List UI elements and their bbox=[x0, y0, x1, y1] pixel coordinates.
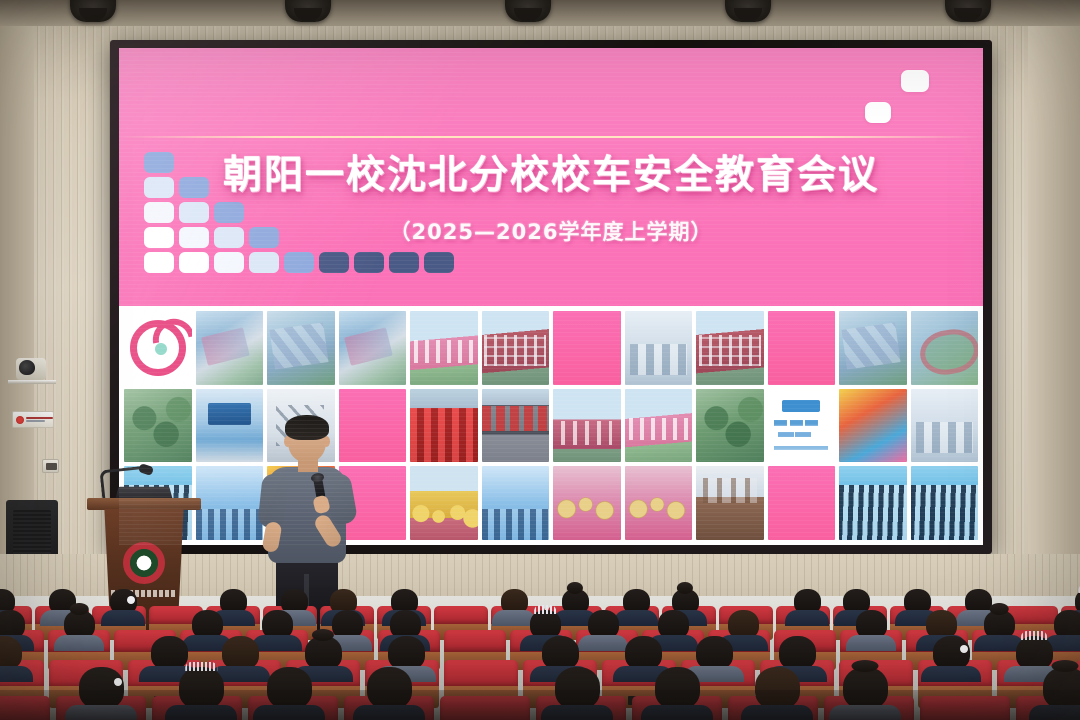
slide-header-area: 朝阳一校沈北分校校车安全教育会议 （2025—2026学年度上学期） bbox=[119, 48, 983, 306]
security-camera-icon bbox=[16, 358, 46, 380]
decor-square bbox=[144, 252, 174, 273]
decor-square bbox=[901, 70, 929, 92]
slide-title-block: 朝阳一校沈北分校校车安全教育会议 （2025—2026学年度上学期） bbox=[119, 144, 983, 246]
decor-square bbox=[389, 252, 419, 273]
aerial-campus-photo bbox=[267, 311, 335, 385]
photo-thumbnail bbox=[625, 466, 693, 540]
audience-member-shoulders bbox=[846, 635, 896, 651]
audience-member-head bbox=[388, 636, 425, 670]
photo-thumbnail bbox=[410, 389, 478, 463]
slide-subtitle: （2025—2026学年度上学期） bbox=[119, 216, 983, 246]
audience-member-head bbox=[1043, 667, 1080, 709]
auditorium-seat: 6 3 bbox=[920, 696, 1010, 720]
decor-square bbox=[424, 252, 454, 273]
ceiling-spotlight-icon bbox=[70, 0, 116, 22]
decor-square bbox=[284, 252, 314, 273]
drum-performance-photo bbox=[553, 466, 621, 540]
campus-greenery-photo bbox=[696, 389, 764, 463]
photo-thumbnail bbox=[625, 389, 693, 463]
assembly-photo bbox=[911, 466, 979, 540]
led-screen-bezel: 朝阳一校沈北分校校车安全教育会议 （2025—2026学年度上学期） bbox=[110, 40, 992, 554]
audience-member-head bbox=[933, 636, 970, 670]
auditorium-seat bbox=[440, 696, 530, 720]
photo-thumbnail bbox=[482, 389, 550, 463]
audience-member-head bbox=[655, 667, 700, 709]
school-building-photo bbox=[625, 389, 693, 463]
photo-thumbnail bbox=[196, 466, 264, 540]
photo-thumbnail bbox=[339, 311, 407, 385]
activity-photo bbox=[839, 389, 907, 463]
audience-member-shoulders bbox=[252, 635, 302, 651]
presenter-hair bbox=[285, 415, 329, 440]
photo-thumbnail bbox=[839, 389, 907, 463]
pink-placeholder-tile bbox=[553, 311, 621, 385]
photo-thumbnail bbox=[839, 466, 907, 540]
audience-member-head bbox=[779, 636, 816, 670]
audience-member-head bbox=[843, 667, 888, 709]
decor-square bbox=[214, 252, 244, 273]
audience-member-head bbox=[222, 636, 259, 670]
audience-member-shoulders bbox=[921, 666, 980, 682]
photo-thumbnail bbox=[553, 466, 621, 540]
decor-square bbox=[319, 252, 349, 273]
audience-member-shoulders bbox=[165, 705, 237, 720]
camera-shelf bbox=[8, 380, 56, 384]
photo-thumbnail bbox=[911, 311, 979, 385]
audience-member-shoulders bbox=[578, 635, 628, 651]
stage-event-photo bbox=[482, 466, 550, 540]
audience-member-head bbox=[151, 636, 188, 670]
aerial-campus-photo bbox=[839, 311, 907, 385]
decor-square bbox=[249, 252, 279, 273]
lectern-emblem-icon bbox=[123, 542, 165, 584]
decor-top-right-squares bbox=[823, 70, 943, 140]
pink-placeholder-tile bbox=[768, 311, 836, 385]
audience-member-head bbox=[696, 636, 733, 670]
decor-square bbox=[179, 252, 209, 273]
seat-back bbox=[440, 696, 530, 720]
led-screen: 朝阳一校沈北分校校车安全教育会议 （2025—2026学年度上学期） bbox=[119, 48, 983, 545]
audience-member-shoulders bbox=[101, 610, 144, 626]
school-building-photo bbox=[482, 311, 550, 385]
photo-thumbnail bbox=[839, 311, 907, 385]
audience-member-head bbox=[0, 636, 22, 670]
lectern-top bbox=[87, 498, 201, 510]
photo-thumbnail bbox=[482, 311, 550, 385]
wall-plaque bbox=[12, 411, 54, 428]
audience-member-shoulders bbox=[65, 705, 137, 720]
audience-member-head bbox=[305, 636, 342, 670]
audience-member-head bbox=[755, 667, 800, 709]
photo-thumbnail bbox=[482, 466, 550, 540]
audience-member-head bbox=[267, 667, 312, 709]
interior-photo bbox=[696, 466, 764, 540]
assembly-photo bbox=[839, 466, 907, 540]
ceiling-spotlight-icon bbox=[505, 0, 551, 22]
slide-photo-collage bbox=[119, 306, 983, 545]
auditorium-seat: 6 3 bbox=[0, 696, 50, 720]
ceremony-photo bbox=[410, 389, 478, 463]
plaque-logo-icon bbox=[16, 416, 24, 424]
audience-member-shoulders bbox=[253, 705, 325, 720]
audience-member-shoulders bbox=[353, 705, 425, 720]
seat-back bbox=[0, 696, 50, 720]
photo-thumbnail bbox=[196, 389, 264, 463]
photo-thumbnail bbox=[696, 389, 764, 463]
seat-back bbox=[444, 660, 518, 687]
children-activity-photo bbox=[410, 466, 478, 540]
photo-thumbnail bbox=[196, 311, 264, 385]
school-building-photo bbox=[410, 311, 478, 385]
campus-greenery-photo bbox=[124, 389, 192, 463]
campus-scene-photo bbox=[625, 311, 693, 385]
audience-member-head bbox=[179, 667, 224, 709]
seat-back bbox=[444, 630, 506, 652]
audience-seating: 6 36 36 36 36 36 36 36 36 36 36 36 36 36… bbox=[0, 596, 1080, 720]
ceiling-spotlight-icon bbox=[285, 0, 331, 22]
audience-member-head bbox=[555, 667, 600, 709]
school-building-photo bbox=[696, 311, 764, 385]
audience-member-head bbox=[367, 667, 412, 709]
organization-chart-photo bbox=[768, 389, 836, 463]
auditorium-scene: 朝阳一校沈北分校校车安全教育会议 （2025—2026学年度上学期） bbox=[0, 0, 1080, 720]
photo-thumbnail bbox=[124, 389, 192, 463]
audience-member-shoulders bbox=[785, 610, 828, 626]
audience-member-shoulders bbox=[541, 705, 613, 720]
photo-thumbnail bbox=[410, 466, 478, 540]
seat-back bbox=[920, 696, 1010, 720]
audience-member-shoulders bbox=[0, 666, 33, 682]
decor-square bbox=[354, 252, 384, 273]
audience-member-shoulders bbox=[741, 705, 813, 720]
photo-thumbnail bbox=[553, 389, 621, 463]
audience-member-shoulders bbox=[641, 705, 713, 720]
photo-thumbnail bbox=[768, 389, 836, 463]
school-emblem-tile bbox=[124, 311, 192, 385]
flag-ceremony-photo bbox=[482, 389, 550, 463]
audience-member-head bbox=[625, 636, 662, 670]
aerial-campus-photo bbox=[196, 311, 264, 385]
classroom-photo bbox=[911, 389, 979, 463]
audience-member-head bbox=[79, 667, 124, 709]
photo-thumbnail bbox=[696, 311, 764, 385]
stage-event-photo bbox=[196, 466, 264, 540]
slide-title: 朝阳一校沈北分校校车安全教育会议 bbox=[119, 144, 983, 200]
aerial-campus-photo bbox=[339, 311, 407, 385]
photo-thumbnail bbox=[410, 311, 478, 385]
audience-member-shoulders bbox=[1029, 705, 1080, 720]
plaque-text-lines bbox=[26, 417, 53, 423]
photo-thumbnail bbox=[911, 466, 979, 540]
audience-member-shoulders bbox=[829, 705, 901, 720]
presenter-ear bbox=[323, 436, 330, 447]
photo-thumbnail bbox=[696, 466, 764, 540]
auditorium-photo bbox=[196, 389, 264, 463]
audience-member-head bbox=[1016, 636, 1053, 670]
pink-placeholder-tile bbox=[768, 466, 836, 540]
ceiling-spotlight-icon bbox=[725, 0, 771, 22]
photo-thumbnail bbox=[625, 311, 693, 385]
ceiling-spotlight-icon bbox=[945, 0, 991, 22]
control-panel[interactable] bbox=[42, 459, 59, 473]
audience-member-shoulders bbox=[54, 635, 104, 651]
photo-thumbnail bbox=[911, 389, 979, 463]
seat-back bbox=[434, 606, 488, 625]
decor-square bbox=[865, 102, 891, 123]
audience-member-head bbox=[542, 636, 579, 670]
sports-field-photo bbox=[911, 311, 979, 385]
drum-performance-photo bbox=[625, 466, 693, 540]
school-gate-photo bbox=[553, 389, 621, 463]
audience-member-shoulders bbox=[614, 610, 657, 626]
school-emblem-icon bbox=[130, 320, 186, 376]
photo-thumbnail bbox=[267, 311, 335, 385]
